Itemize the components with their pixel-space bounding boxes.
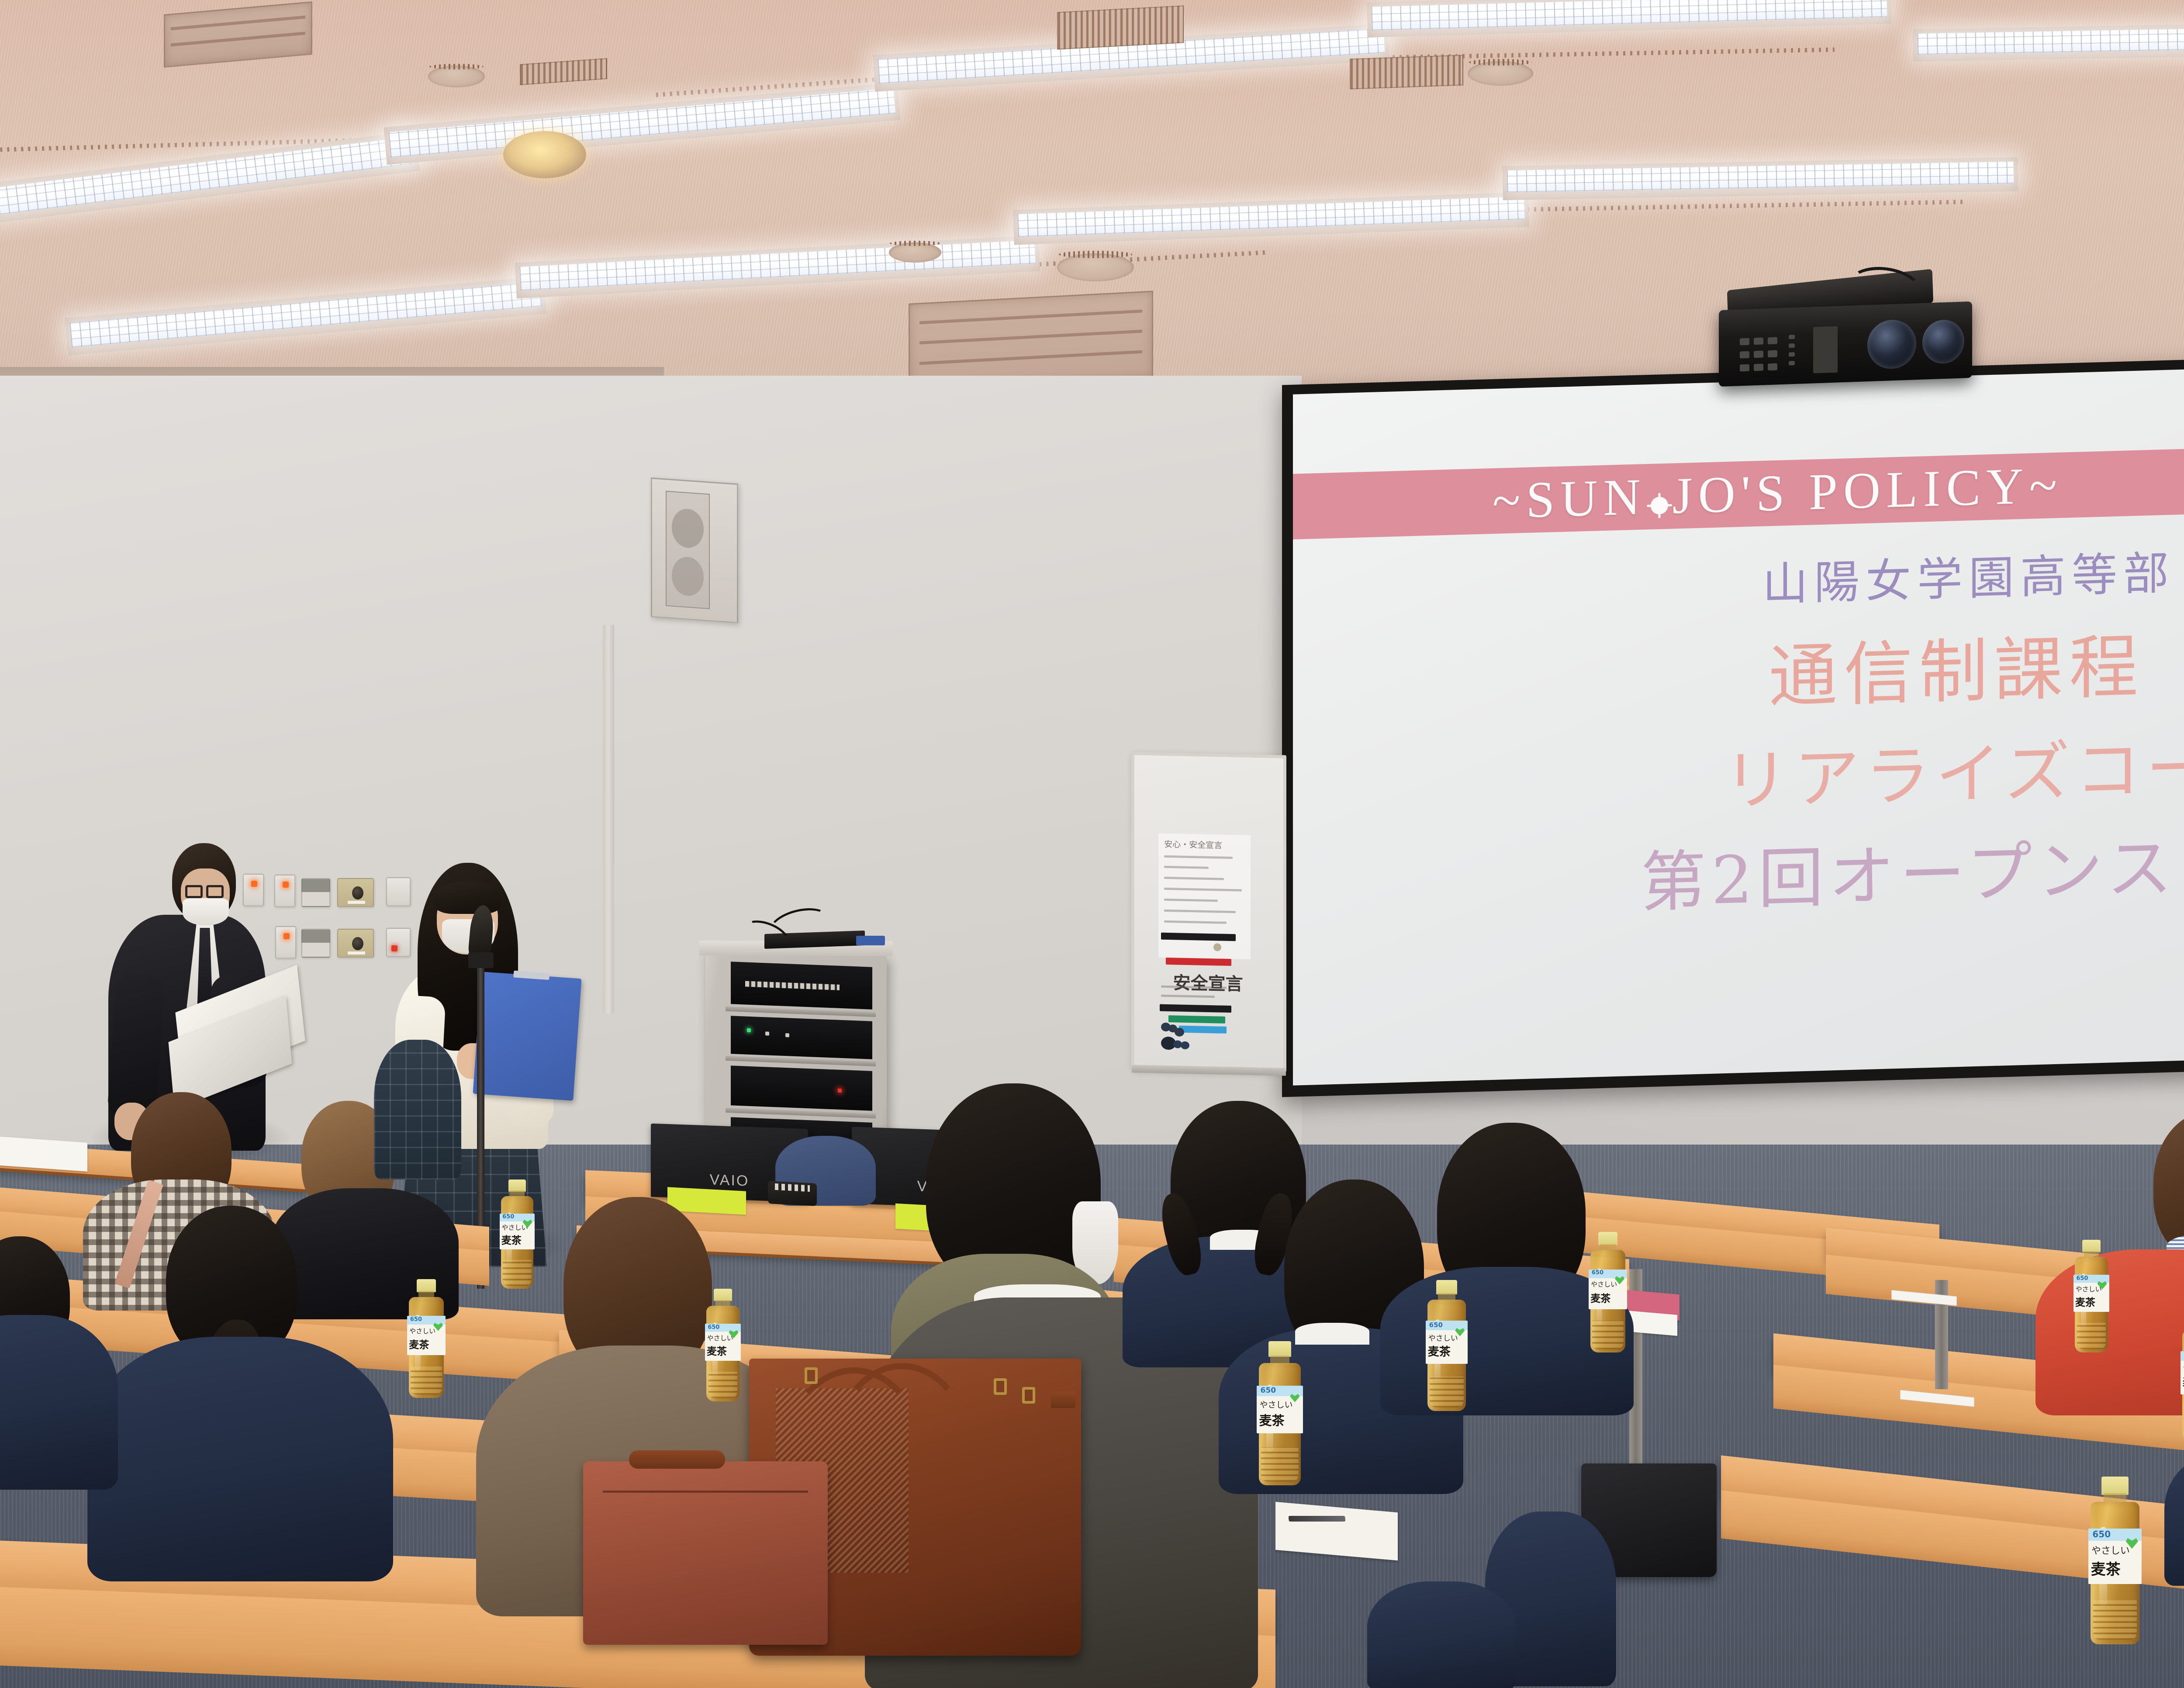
bag-buckle [1022,1387,1035,1404]
bag-buckle [994,1378,1007,1395]
wall-dial-panel[interactable] [337,929,374,958]
poster-bar-dark [1160,1004,1231,1012]
audience-body-navy [87,1337,393,1581]
bag-handle [830,1363,974,1551]
wall-control-panel[interactable] [301,929,330,958]
rack-bay [731,1065,872,1111]
projector-lens [1867,319,1916,370]
remote-control[interactable] [768,1181,817,1206]
slide-line-school: 山陽女学園高等部 [1762,536,2175,613]
tea-bottle[interactable]: 650 やさしい 麦茶 [2087,1477,2143,1644]
bag-buckle [805,1367,818,1384]
audience-body-navy [0,1315,118,1490]
bag-strap [1051,1391,1075,1408]
slide-body: 山陽女学園高等部 通信制課程 リアライズコース 第2回オープンスクー [1293,533,2184,1058]
rack-indicator-led [785,1033,789,1037]
tea-bottle[interactable]: 650 やさしい 麦茶 [1588,1232,1628,1352]
lecture-hall-photo: ~SUNJO'S POLICY~ 山陽女学園高等部 通信制課程 リアライズコース… [0,0,2184,1688]
wall-dial-panel[interactable] [337,878,374,907]
slide-banner-text: ~SUNJO'S POLICY~ [1493,456,2063,531]
wall-speaker [651,477,738,623]
whiteboard: 安心・安全宣言 安全宣言 [1131,752,1286,1072]
ceiling-diffuser [428,66,485,87]
audience-skirt-standing [374,1040,461,1180]
ceiling-air-grille [1350,55,1463,89]
ceiling-diffuser [1057,253,1134,281]
dial-knob[interactable] [352,886,363,899]
tea-bottle[interactable]: 650 やさしい 麦茶 [704,1289,742,1401]
projection-screen-surface: ~SUNJO'S POLICY~ 山陽女学園高等部 通信制課程 リアライズコース… [1293,367,2184,1086]
ceiling-diffuser [889,242,941,263]
whiteboard-magnet[interactable] [1213,943,1221,951]
tea-bottle[interactable]: 650 やさしい 麦茶 [2180,1311,2184,1442]
eyeglasses-icon [185,885,203,898]
slide-line-program: 通信制課程 [1769,610,2144,721]
face-mask-icon [183,898,229,925]
ceiling-projector [1719,301,1972,387]
tea-bottle[interactable]: 650 やさしい 麦茶 [2073,1240,2110,1352]
wall-switch-plate[interactable] [275,926,296,958]
wall-switch-plate[interactable] [274,875,295,907]
emergency-call-plate[interactable] [386,928,411,957]
ceiling-diffuser [1468,61,1533,86]
laptop-brand-label: VAIO [710,1172,750,1190]
wall-switch-plate[interactable] [243,874,264,906]
whiteboard-magnet[interactable] [1181,1041,1189,1049]
projector-lens-secondary [1922,319,1964,364]
tea-bottle[interactable]: 650 やさしい 麦茶 [1425,1280,1469,1411]
microphone-clip [468,952,494,968]
slide-banner: ~SUNJO'S POLICY~ [1293,447,2184,540]
brown-pouch-bag [583,1461,828,1645]
poster-bar-green [1168,1015,1225,1024]
rack-power-led [747,1028,751,1032]
remote-buttons[interactable] [775,1183,810,1192]
student-clipboard [473,972,582,1100]
recessed-downlight [503,131,586,178]
poster-heading: 安全宣言 [1173,969,1243,995]
rack-standby-led [838,1088,842,1092]
student-bangs [434,882,501,914]
tea-bottle[interactable]: 650 やさしい 麦茶 [1256,1341,1304,1485]
projection-screen: ~SUNJO'S POLICY~ 山陽女学園高等部 通信制課程 リアライズコース… [1282,358,2184,1097]
eyeglasses-icon [206,885,224,898]
pouch-handle [629,1450,725,1469]
dial-knob[interactable] [352,937,363,950]
ceiling-air-grille [1057,5,1184,49]
shirt-collar [1295,1323,1369,1345]
pen[interactable] [1289,1516,1346,1522]
whiteboard-magnet[interactable] [1175,1027,1184,1036]
wall-switch-plate[interactable] [386,877,411,906]
wall-control-panel[interactable] [301,878,330,907]
speaker-grille [666,491,710,609]
poster-bar-red [1166,958,1231,966]
poster-subheading: 安心・安全宣言 [1164,838,1222,851]
audience-body-navy [1367,1581,1516,1688]
tea-bottle[interactable]: 650 やさしい 麦茶 [406,1279,446,1398]
rack-indicator-led [765,1031,769,1035]
rack-bay [731,1016,872,1059]
sun-icon [1651,497,1668,515]
slide-line-course: リアライズコース [1723,713,2184,823]
tea-bottle[interactable]: 650 やさしい 麦茶 [499,1180,536,1289]
poster-bar-blue [1179,1026,1227,1034]
pouch-zipper [603,1491,808,1493]
wall-conduit [603,625,614,1013]
presenter-teacher-arm-left [107,972,166,1120]
av-adapter [856,936,885,945]
slide-line-event: 第2回オープンスクー [1641,811,2184,924]
